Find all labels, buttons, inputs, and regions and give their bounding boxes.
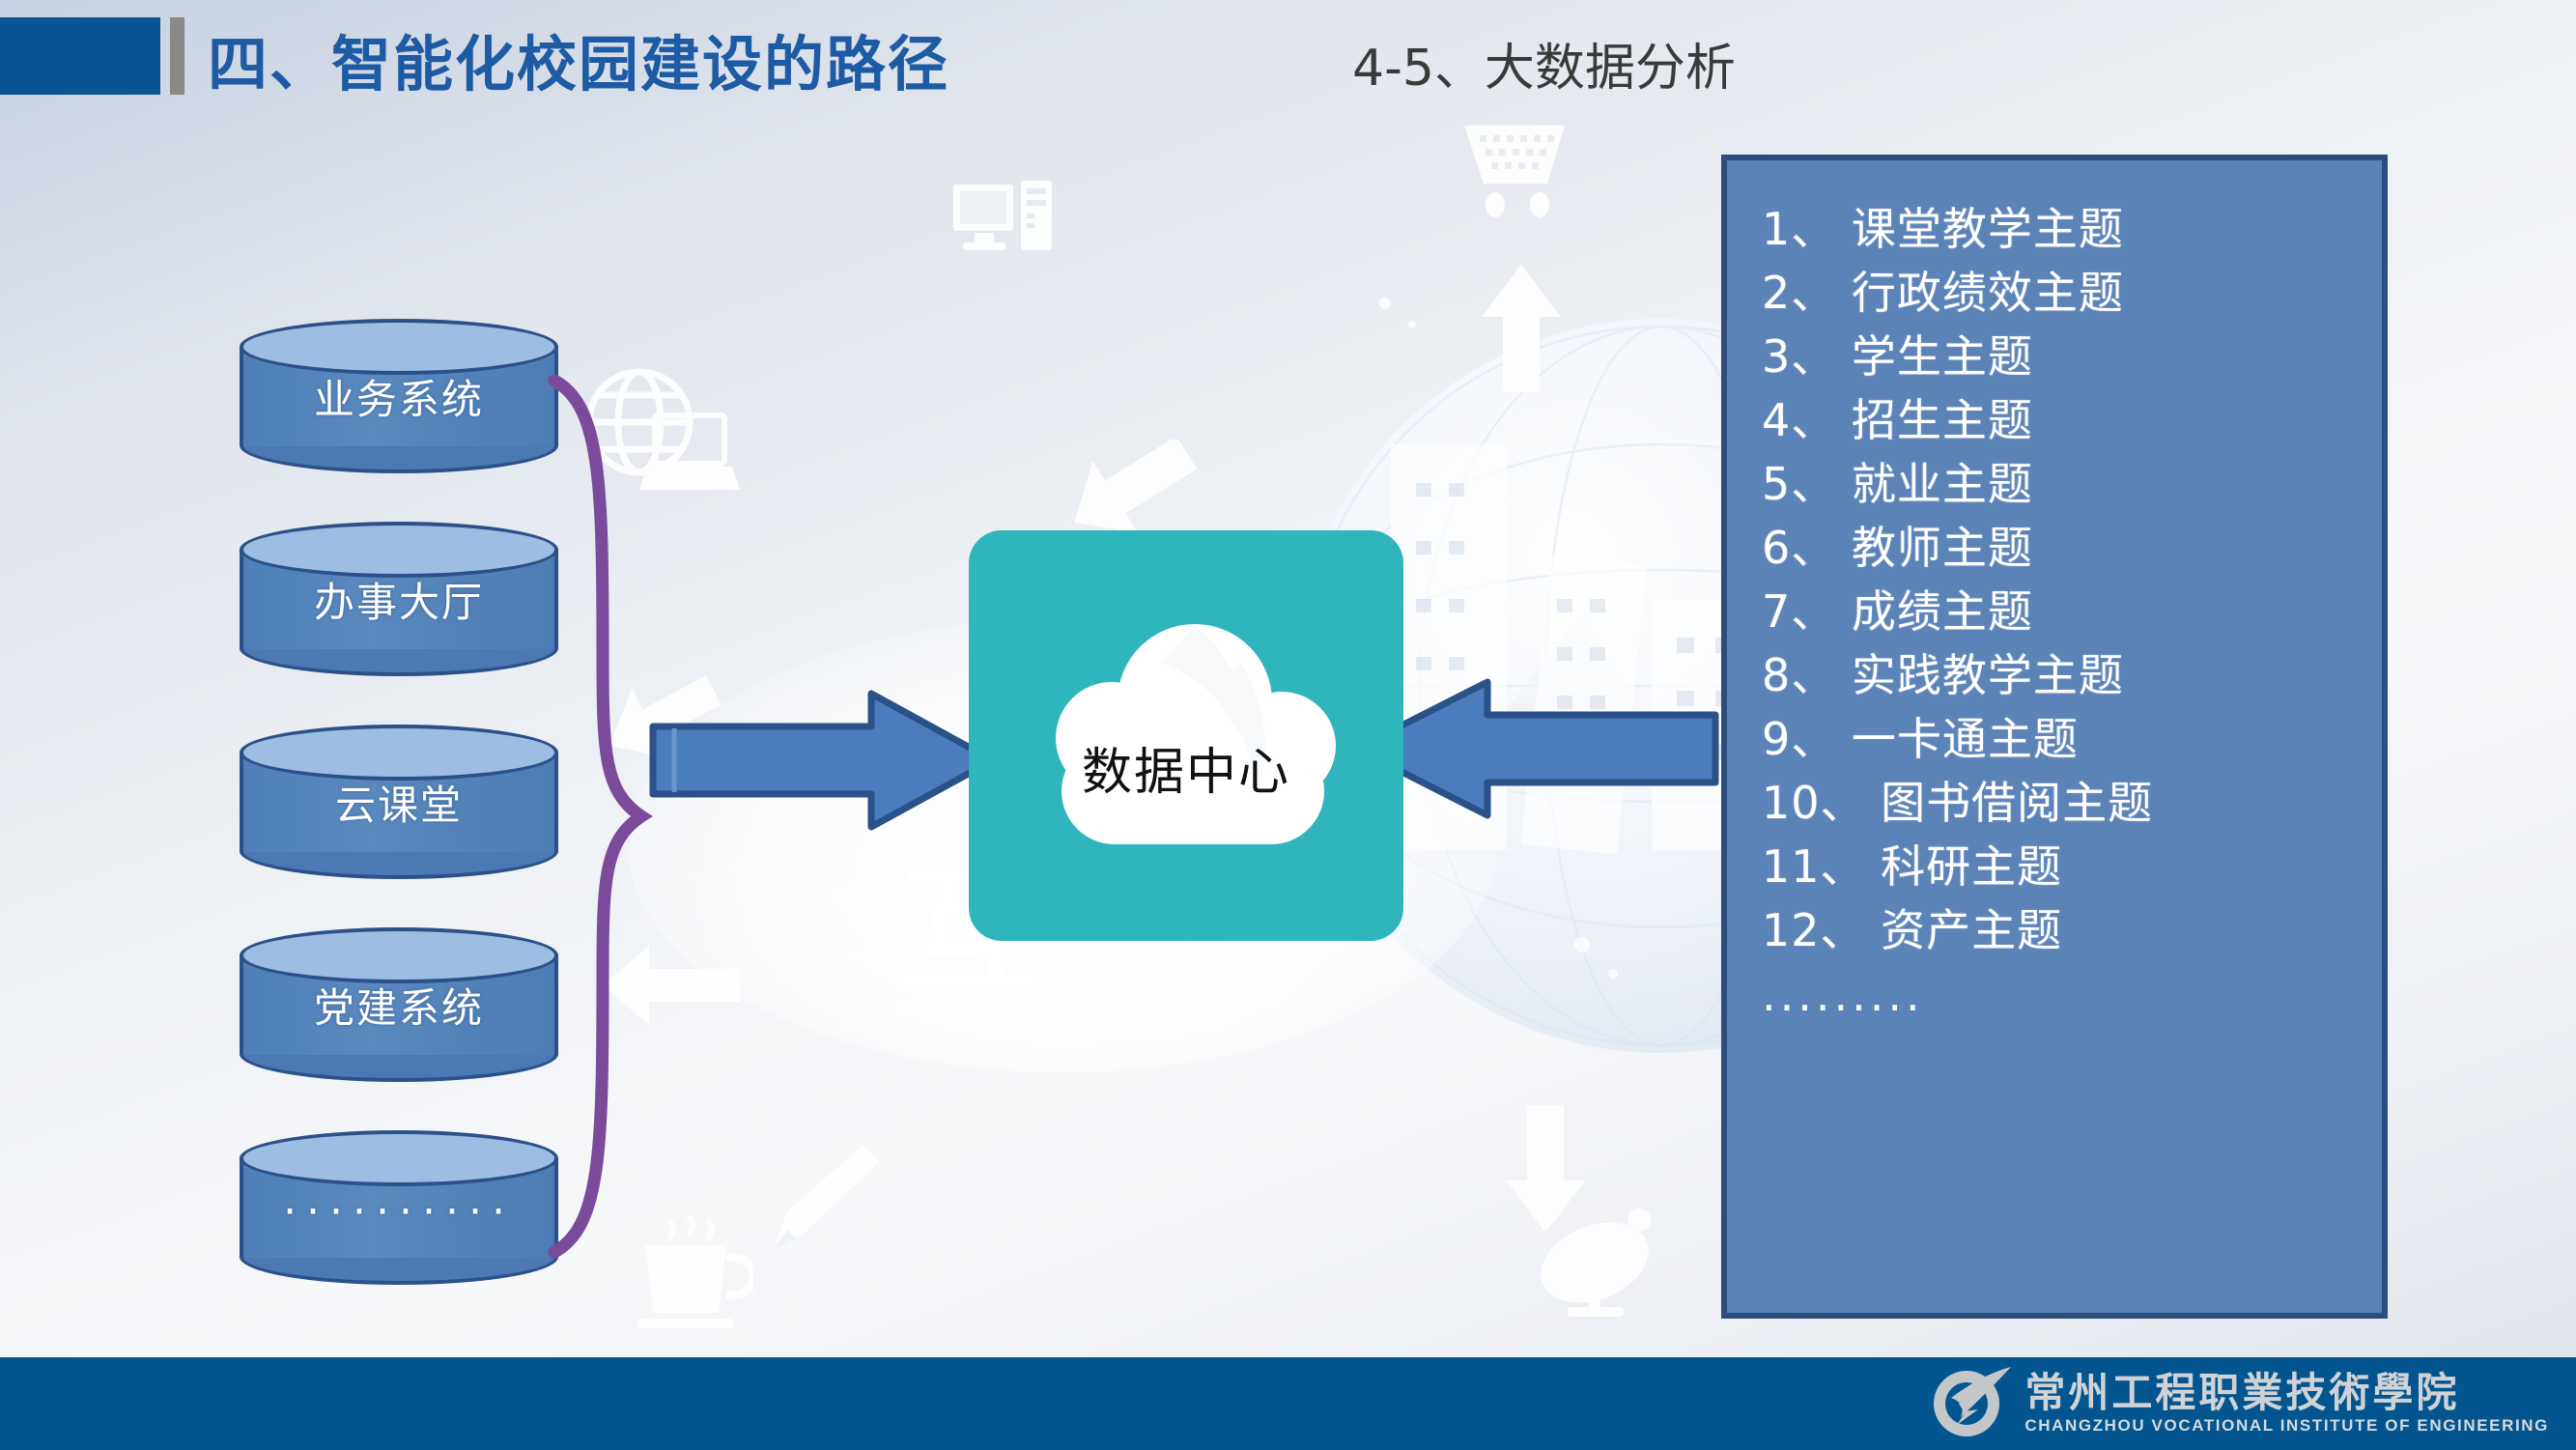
page-title: 四、智能化校园建设的路径 [208, 15, 949, 102]
source-cylinder-cloud-classroom[interactable]: 云课堂 [240, 725, 558, 879]
topic-item[interactable]: 3、 学生主题 [1762, 325, 2382, 388]
logo-text-block: 常州工程职業技術學院 CHANGZHOU VOCATIONAL INSTITUT… [2024, 1372, 2549, 1436]
topic-item[interactable]: 7、 成绩主题 [1762, 580, 2382, 643]
topic-item[interactable]: 5、 就业主题 [1762, 452, 2382, 516]
institution-name-cn: 常州工程职業技術學院 [2024, 1372, 2549, 1414]
slide-root: 互 [0, 0, 2576, 1450]
logo-mark-icon [1922, 1365, 2011, 1442]
topic-item[interactable]: 2、 行政绩效主题 [1762, 261, 2382, 325]
satellite-dish-icon [1531, 1193, 1676, 1319]
topic-item[interactable]: 8、 实践教学主题 [1762, 643, 2382, 707]
source-cylinder-party-building[interactable]: 党建系统 [240, 927, 558, 1082]
source-cylinder-service-hall[interactable]: 办事大厅 [240, 522, 558, 676]
topic-list-ellipsis: ········· [1762, 962, 2382, 1036]
desktop-computer-icon [951, 179, 1067, 275]
source-cylinder-more[interactable]: ·········· [240, 1130, 558, 1285]
source-cylinder-label: 党建系统 [240, 927, 558, 1082]
sparkle-icon [1565, 927, 1632, 995]
topic-item[interactable]: 11、 科研主题 [1762, 835, 2382, 898]
institution-logo: 常州工程职業技術學院 CHANGZHOU VOCATIONAL INSTITUT… [1922, 1365, 2549, 1442]
topic-item[interactable]: 1、 课堂教学主题 [1762, 197, 2382, 261]
topic-item[interactable]: 10、 图书借阅主题 [1762, 771, 2382, 835]
footer-bar: 常州工程职業技術學院 CHANGZHOU VOCATIONAL INSTITUT… [0, 1357, 2576, 1450]
down-arrow-icon [1502, 1101, 1589, 1237]
up-arrow-icon [1478, 261, 1565, 396]
data-center-label: 数据中心 [969, 731, 1403, 804]
arrow-sources-to-datacenter [649, 688, 997, 833]
topic-item[interactable]: 9、 一卡通主题 [1762, 707, 2382, 771]
source-cylinder-business-system[interactable]: 业务系统 [240, 319, 558, 473]
arrow-topics-to-datacenter [1352, 676, 1719, 821]
header-divider-bar [170, 17, 184, 95]
sparkle-icon [1372, 290, 1430, 348]
topic-item[interactable]: 6、 教师主题 [1762, 516, 2382, 580]
shopping-cart-icon [1458, 116, 1584, 222]
data-center-card[interactable]: 数据中心 [969, 530, 1403, 941]
source-cylinder-label: 业务系统 [240, 319, 558, 473]
institution-name-en: CHANGZHOU VOCATIONAL INSTITUTE OF ENGINE… [2024, 1416, 2549, 1436]
left-arrow-icon [1061, 440, 1201, 536]
header-accent-block [0, 17, 160, 95]
pencil-icon [763, 1135, 889, 1261]
source-cylinder-label: ·········· [240, 1130, 558, 1285]
source-cylinder-label: 办事大厅 [240, 522, 558, 676]
topics-panel: 1、 课堂教学主题 2、 行政绩效主题 3、 学生主题 4、 招生主题 5、 就… [1721, 155, 2388, 1319]
topic-item[interactable]: 12、 资产主题 [1762, 898, 2382, 962]
page-subtitle: 4-5、大数据分析 [1352, 27, 1736, 100]
grouping-brace [541, 367, 666, 1265]
topic-item[interactable]: 4、 招生主题 [1762, 388, 2382, 452]
source-cylinder-label: 云课堂 [240, 725, 558, 879]
